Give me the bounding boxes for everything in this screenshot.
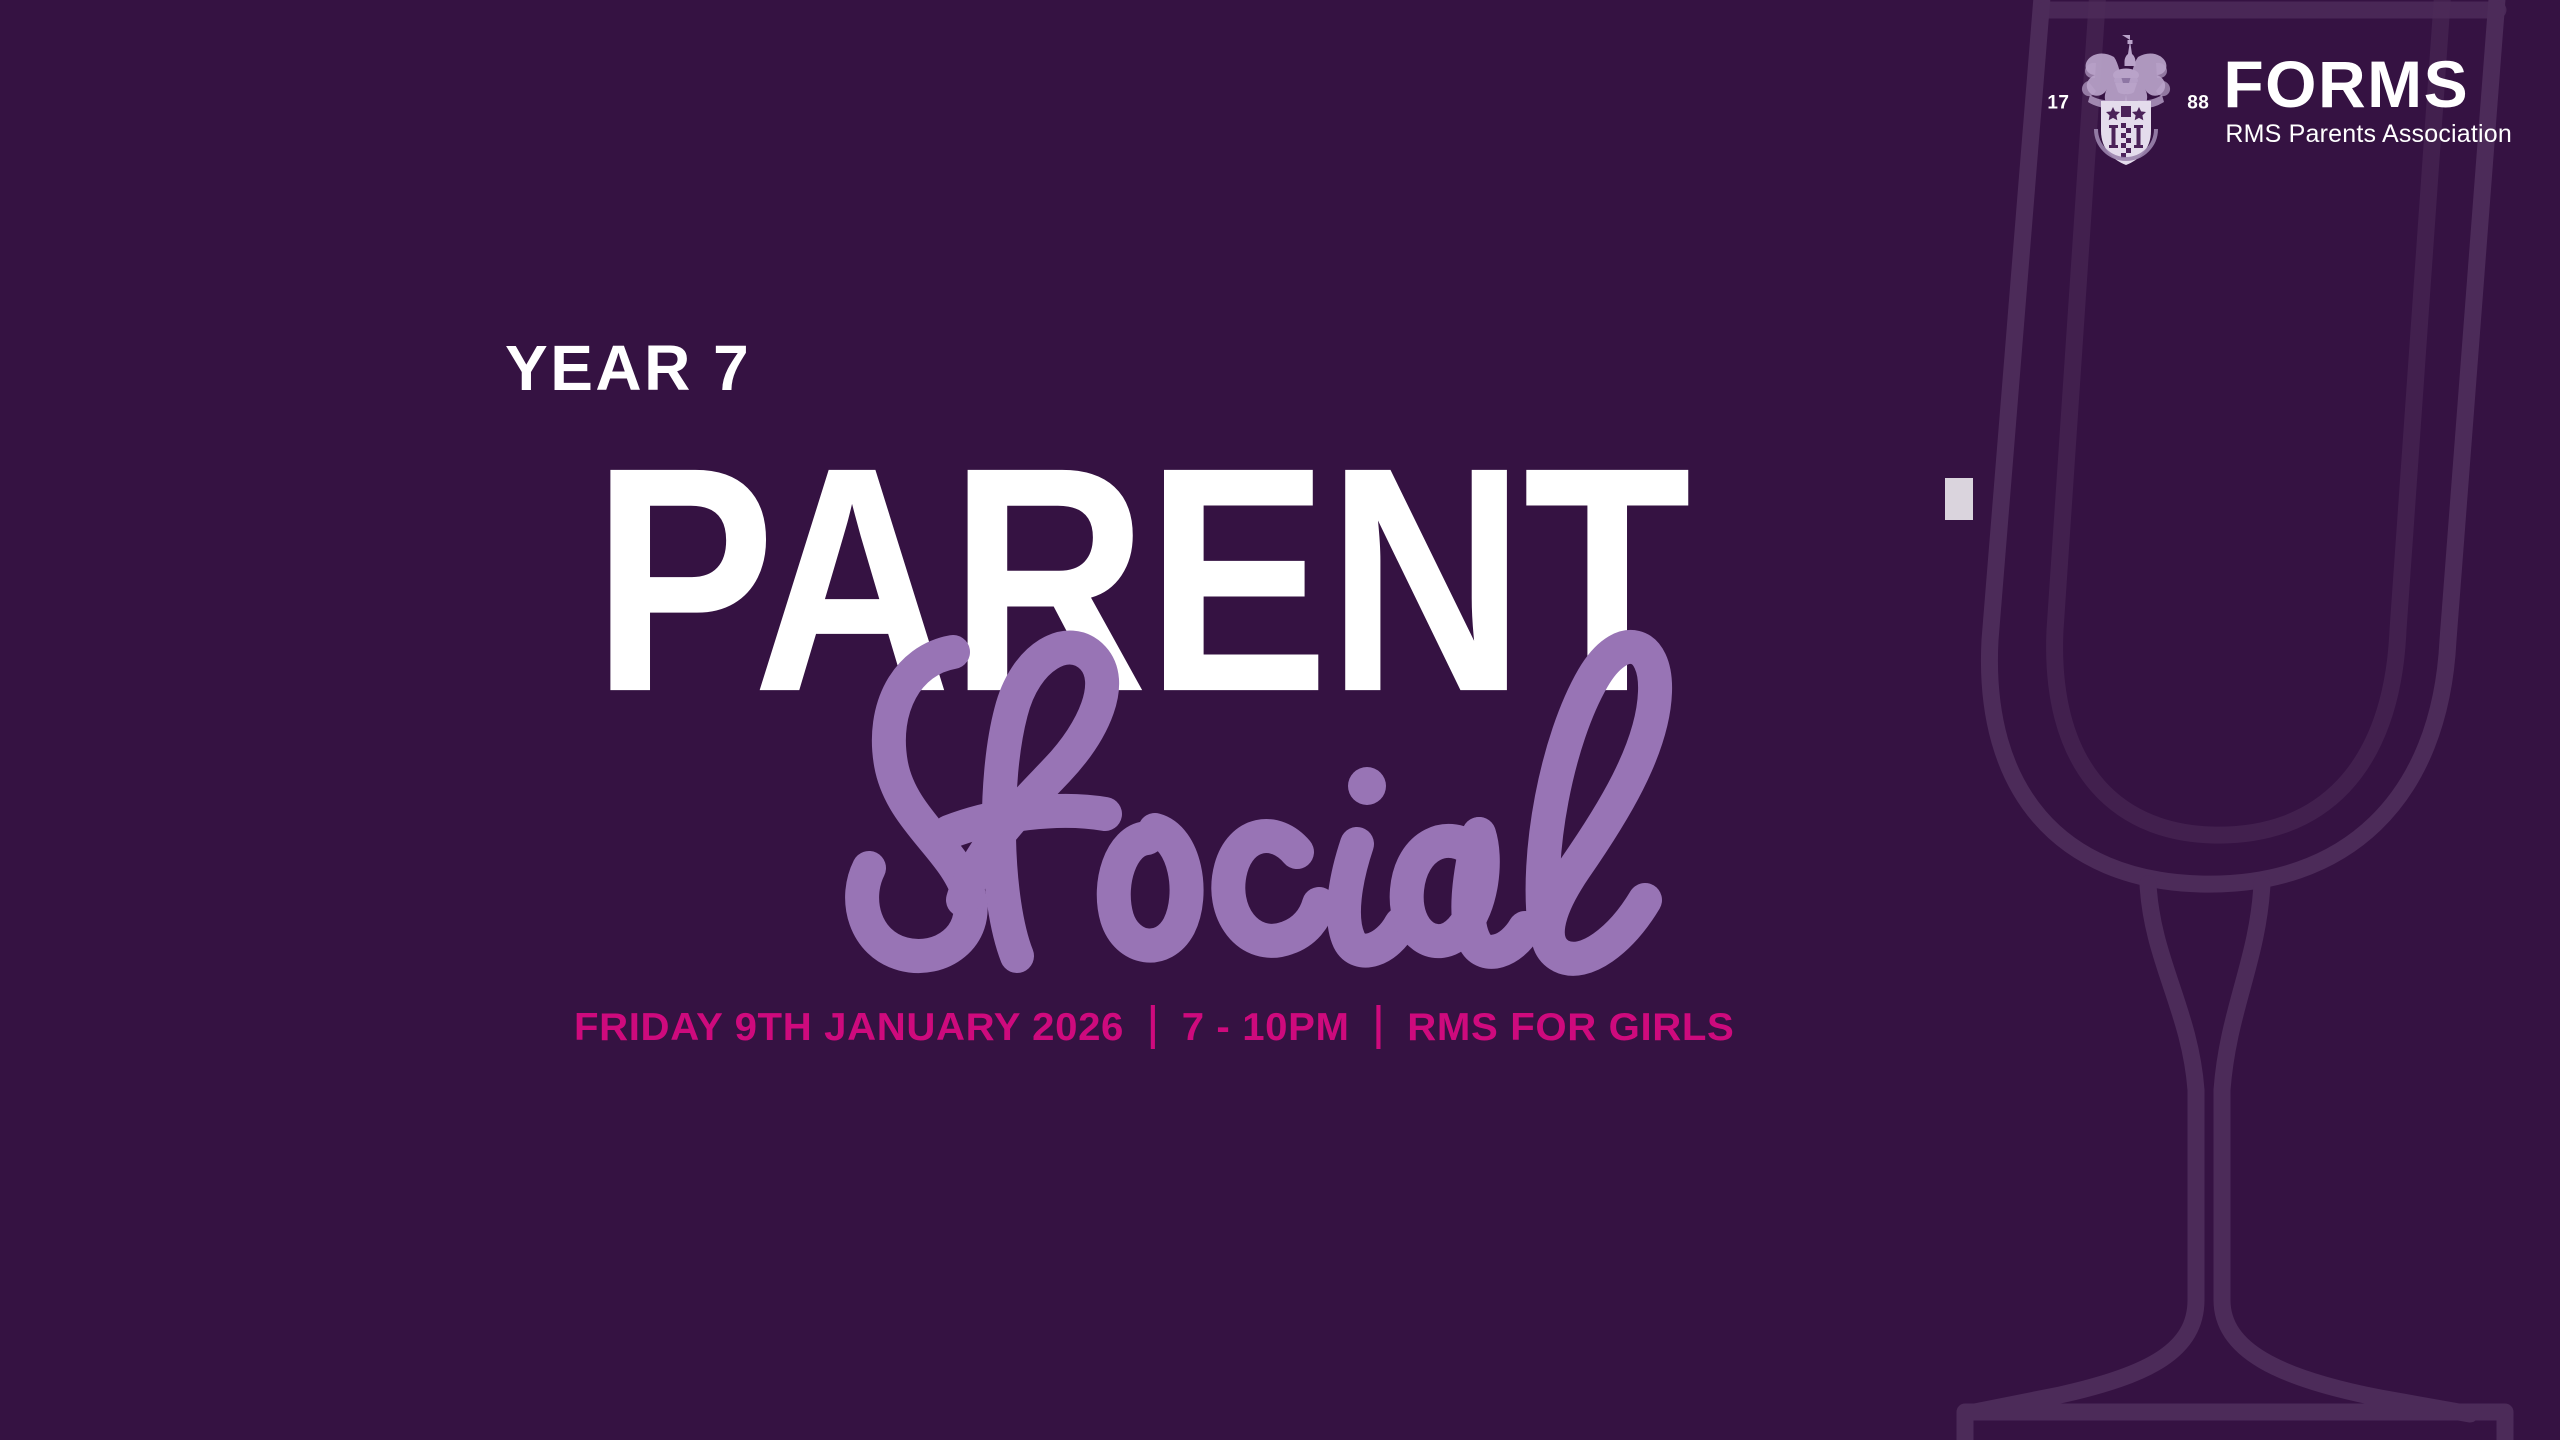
- crest-wrap: 17: [2051, 28, 2201, 178]
- logo-wordmark: FORMS: [2223, 53, 2469, 116]
- detail-separator: [1376, 1005, 1380, 1049]
- crest-year-left: 17: [2047, 94, 2069, 113]
- logo-subtitle: RMS Parents Association: [2225, 121, 2512, 149]
- logo-text-block: FORMS RMS Parents Association: [2223, 53, 2512, 149]
- forms-logo: 17: [2051, 28, 2512, 178]
- headline-letter-tip: [1945, 478, 1973, 520]
- event-date: FRIDAY 9TH JANUARY 2026: [574, 1008, 1124, 1047]
- event-details-line: FRIDAY 9TH JANUARY 2026 7 - 10PM RMS FOR…: [574, 1005, 1734, 1049]
- rms-coat-of-arms-crest-icon: [2070, 33, 2182, 173]
- event-venue: RMS FOR GIRLS: [1407, 1008, 1734, 1047]
- eyebrow-year-label: YEAR 7: [505, 336, 751, 400]
- crest-year-right: 88: [2187, 94, 2209, 113]
- detail-separator: [1151, 1005, 1155, 1049]
- headline-script-word: Social: [845, 600, 1765, 980]
- event-time: 7 - 10PM: [1182, 1008, 1350, 1047]
- event-poster: YEAR 7 PARENT Social: [0, 0, 2560, 1440]
- headline-block: YEAR 7 PARENT Social: [0, 0, 2560, 1440]
